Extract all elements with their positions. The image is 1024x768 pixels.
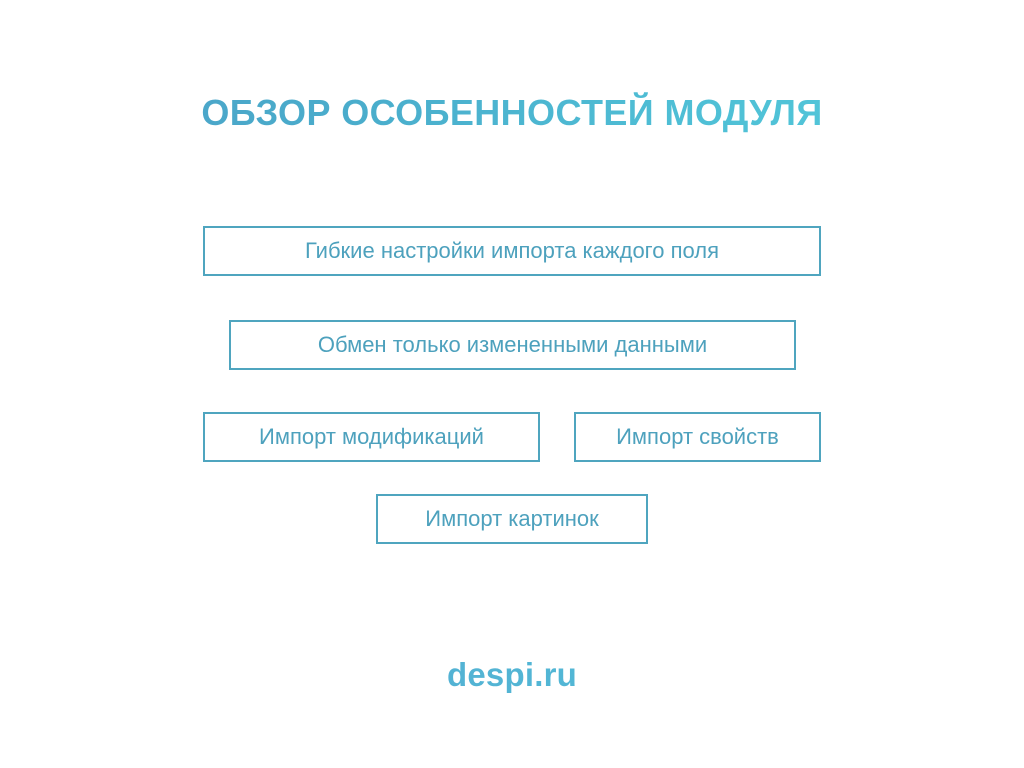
feature-box-label: Импорт модификаций	[259, 426, 484, 448]
feature-box-label: Импорт картинок	[425, 508, 599, 530]
feature-box-label: Обмен только измененными данными	[318, 334, 707, 356]
site-footer-url: despi.ru	[0, 656, 1024, 694]
feature-box-import-modifications: Импорт модификаций	[203, 412, 540, 462]
presentation-slide: ОБЗОР ОСОБЕННОСТЕЙ МОДУЛЯ Гибкие настрой…	[0, 0, 1024, 768]
feature-box-label: Импорт свойств	[616, 426, 779, 448]
feature-box-flexible-settings: Гибкие настройки импорта каждого поля	[203, 226, 821, 276]
slide-title: ОБЗОР ОСОБЕННОСТЕЙ МОДУЛЯ	[0, 92, 1024, 134]
feature-box-changed-data: Обмен только измененными данными	[229, 320, 796, 370]
feature-box-import-images: Импорт картинок	[376, 494, 648, 544]
feature-box-import-properties: Импорт свойств	[574, 412, 821, 462]
feature-box-label: Гибкие настройки импорта каждого поля	[305, 240, 719, 262]
